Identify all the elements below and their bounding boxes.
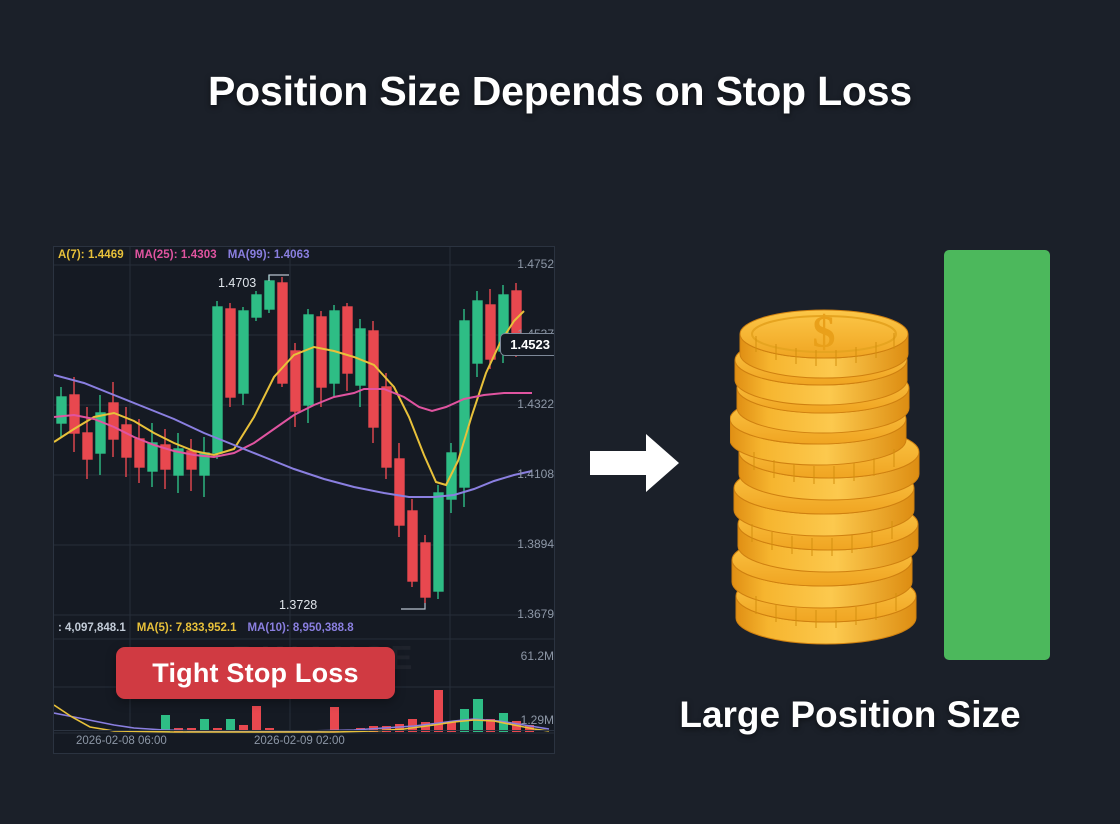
ma-legend: A(7): 1.4469MA(25): 1.4303MA(99): 1.4063 — [58, 249, 321, 261]
price-axis-label: 1.3894 — [517, 537, 554, 551]
coin-stack-icon: $ — [730, 300, 922, 665]
legend-volume-ma5: MA(5): 7,833,952.1 — [137, 622, 237, 634]
time-axis-label: 2026-02-08 06:00 — [76, 735, 167, 747]
legend-volume-ma10: MA(10): 8,950,388.8 — [248, 622, 354, 634]
time-axis-label: 2026-02-09 02:00 — [254, 735, 345, 747]
current-price-tag[interactable]: 1.4523 — [500, 333, 555, 356]
legend-volume: : 4,097,848.1 — [58, 622, 126, 634]
price-axis-label: 1.4322 — [517, 397, 554, 411]
legend-ma99: MA(99): 1.4063 — [228, 249, 310, 261]
low-price-annotation: 1.3728 — [279, 598, 317, 612]
price-axis-label: 1.4108 — [517, 467, 554, 481]
legend-ma25: MA(25): 1.4303 — [135, 249, 217, 261]
price-axis-label: 1.3679 — [517, 607, 554, 621]
arrow-right-icon — [590, 432, 680, 499]
legend-ma7: A(7): 1.4469 — [58, 249, 124, 261]
volume-axis-label: 61.2M — [521, 649, 554, 663]
dollar-sign-icon: $ — [813, 306, 836, 357]
volume-axis-label: 1.29M — [521, 713, 554, 727]
page-title: Position Size Depends on Stop Loss — [0, 68, 1120, 115]
position-size-bar — [944, 250, 1050, 660]
time-axis: 2026-02-08 06:00 2026-02-09 02:00 — [54, 730, 555, 753]
price-axis-label: 1.4752 — [517, 257, 554, 271]
high-price-annotation: 1.4703 — [218, 276, 256, 290]
stop-loss-badge: Tight Stop Loss — [116, 647, 395, 699]
volume-legend: : 4,097,848.1MA(5): 7,833,952.1MA(10): 8… — [58, 622, 365, 634]
position-size-caption: Large Position Size — [620, 694, 1080, 736]
